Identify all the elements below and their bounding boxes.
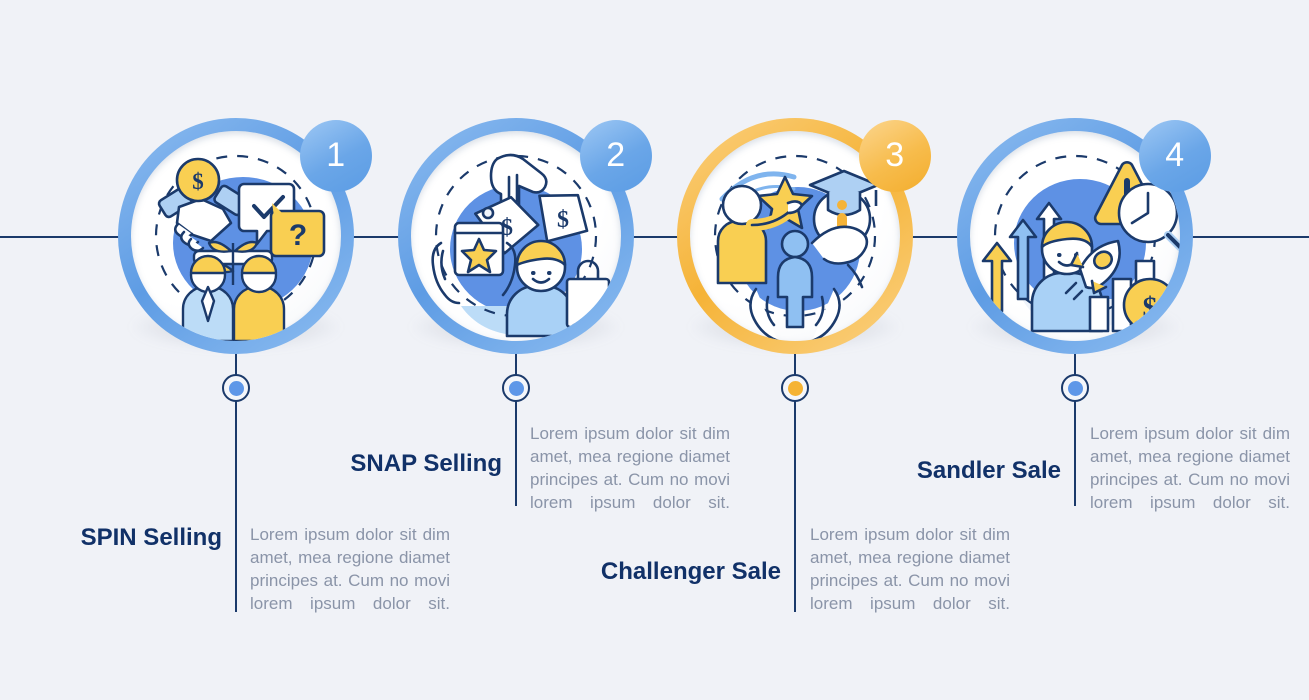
- step-title-4: Sandler Sale: [917, 457, 1061, 486]
- step-number-badge-2: 2: [580, 120, 652, 192]
- step-number-badge-1: 1: [300, 120, 372, 192]
- svg-text:?: ?: [289, 219, 307, 252]
- svg-text:$: $: [192, 169, 204, 194]
- step-body-block-2: Lorem ipsum dolor sit dim amet, mea regi…: [530, 423, 730, 515]
- step-title-block-2: SNAP Selling: [280, 450, 502, 479]
- svg-text:$: $: [557, 207, 569, 233]
- step-dot-1[interactable]: [222, 374, 250, 402]
- step-body-4: Lorem ipsum dolor sit dim amet, mea regi…: [1090, 423, 1290, 515]
- step-dot-4[interactable]: [1061, 374, 1089, 402]
- step-node-1[interactable]: $ ?: [118, 118, 354, 354]
- step-title-block-1: SPIN Selling: [0, 524, 222, 553]
- infographic-canvas: $ ?: [0, 0, 1309, 700]
- step-body-block-4: Lorem ipsum dolor sit dim amet, mea regi…: [1090, 423, 1290, 515]
- dot-fill: [1068, 381, 1083, 396]
- step-title-3: Challenger Sale: [601, 558, 781, 587]
- step-title-block-4: Sandler Sale: [840, 457, 1061, 486]
- step-node-3[interactable]: 3: [677, 118, 913, 354]
- step-node-2[interactable]: $ $: [398, 118, 634, 354]
- step-title-block-3: Challenger Sale: [560, 558, 781, 587]
- step-dot-2[interactable]: [502, 374, 530, 402]
- step-node-4[interactable]: $ 4: [957, 118, 1193, 354]
- step-title-2: SNAP Selling: [350, 450, 502, 479]
- step-number-badge-4: 4: [1139, 120, 1211, 192]
- step-number-badge-3: 3: [859, 120, 931, 192]
- dot-fill: [229, 381, 244, 396]
- dot-fill: [509, 381, 524, 396]
- svg-text:$: $: [1143, 291, 1158, 324]
- step-dot-3[interactable]: [781, 374, 809, 402]
- step-body-2: Lorem ipsum dolor sit dim amet, mea regi…: [530, 423, 730, 515]
- step-body-block-1: Lorem ipsum dolor sit dim amet, mea regi…: [250, 524, 450, 616]
- step-body-3: Lorem ipsum dolor sit dim amet, mea regi…: [810, 524, 1010, 616]
- dot-fill: [788, 381, 803, 396]
- step-body-block-3: Lorem ipsum dolor sit dim amet, mea regi…: [810, 524, 1010, 616]
- step-title-1: SPIN Selling: [81, 524, 222, 553]
- step-body-1: Lorem ipsum dolor sit dim amet, mea regi…: [250, 524, 450, 616]
